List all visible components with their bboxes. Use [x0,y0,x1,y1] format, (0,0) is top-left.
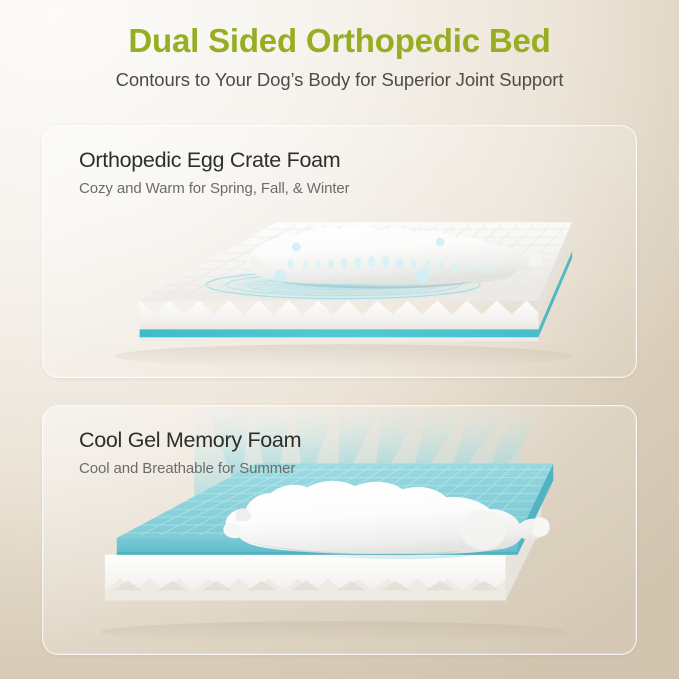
page-title: Dual Sided Orthopedic Bed [0,22,679,60]
card-2-header: Cool Gel Memory Foam Cool and Breathable… [79,428,301,477]
infographic-page: Dual Sided Orthopedic Bed Contours to Yo… [0,0,679,679]
feature-card-orthopedic-egg-crate-foam: Orthopedic Egg Crate Foam Cozy and Warm … [42,125,637,378]
card-1-subtitle: Cozy and Warm for Spring, Fall, & Winter [79,180,350,197]
card-1-title: Orthopedic Egg Crate Foam [79,148,350,173]
card-1-header: Orthopedic Egg Crate Foam Cozy and Warm … [79,148,350,197]
card-2-title: Cool Gel Memory Foam [79,428,301,453]
header: Dual Sided Orthopedic Bed Contours to Yo… [0,22,679,91]
page-subtitle: Contours to Your Dog’s Body for Superior… [0,69,679,91]
feature-card-cool-gel-memory-foam: Cool Gel Memory Foam Cool and Breathable… [42,405,637,655]
card-2-subtitle: Cool and Breathable for Summer [79,460,301,477]
